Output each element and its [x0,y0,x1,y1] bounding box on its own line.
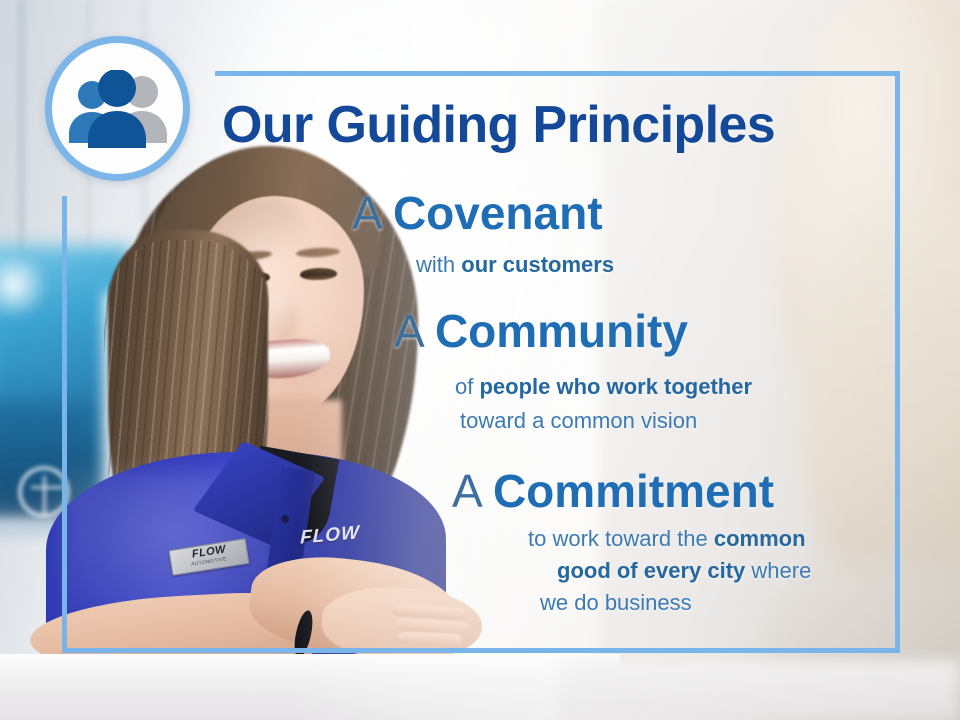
commitment-line2-part2: where [745,558,811,583]
principle-keyword-covenant: Covenant [393,187,603,239]
people-group-icon-badge [45,36,190,181]
principle-community-line-2: toward a common vision [460,408,697,434]
desk-surface-far [560,660,960,720]
frame-border-bottom [62,648,900,653]
page-title: Our Guiding Principles [222,95,775,155]
commitment-line1-part1: to work toward the [528,526,714,551]
principle-covenant-line-1: with our customers [416,252,614,278]
principle-keyword-community: Community [435,305,688,357]
community-line1-part1: of [455,374,479,399]
commitment-line2-part1: good of every city [557,558,745,583]
principle-keyword-commitment: Commitment [493,465,774,517]
covenant-line1-part1: with [416,252,461,277]
principle-heading-community: A Community [394,304,688,358]
principle-heading-covenant: A Covenant [352,186,603,240]
commitment-line1-part2: common [714,526,806,551]
principle-lead-article: A [452,465,480,517]
principle-lead-article: A [394,305,422,357]
frame-border-left [62,196,67,653]
people-group-icon [62,70,174,148]
principle-lead-article: A [352,187,380,239]
covenant-line1-part2: our customers [461,252,614,277]
principle-commitment-line-3: we do business [540,590,692,616]
frame-border-right [895,71,900,653]
polo-button [281,515,289,523]
frame-border-top [215,71,900,76]
principle-commitment-line-1: to work toward the common [528,526,806,552]
desk-surface [0,654,620,720]
principle-heading-commitment: A Commitment [452,464,774,518]
guiding-principles-graphic: FLOW FLOW AUTOMOTIVE [0,0,960,720]
community-line1-part2: people who work together [479,374,752,399]
principle-community-line-1: of people who work together [455,374,752,400]
employee-finger [398,632,462,646]
principle-commitment-line-2: good of every city where [557,558,811,584]
